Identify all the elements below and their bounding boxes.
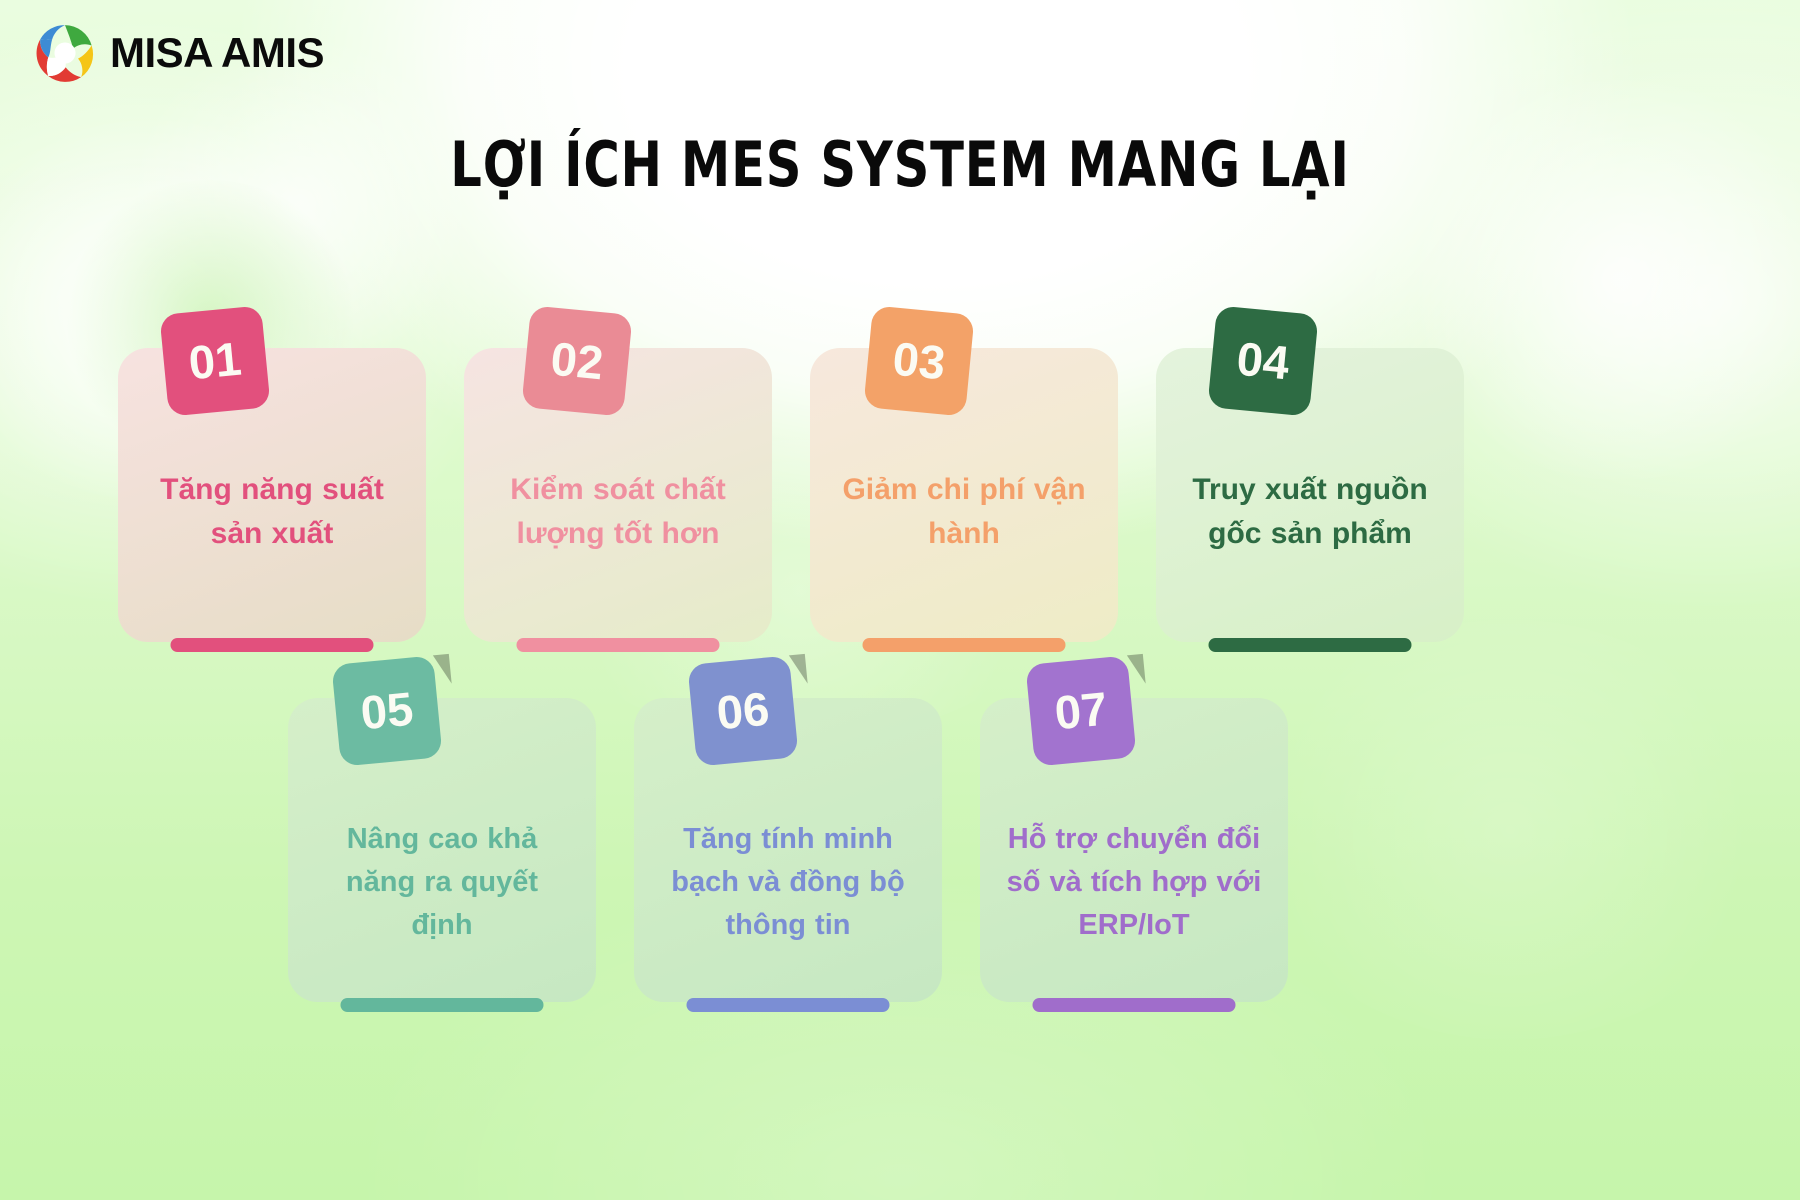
folded-corner-icon	[1127, 654, 1146, 685]
benefit-card-05[interactable]: 05Nâng cao khả năng ra quyết định	[288, 698, 596, 1002]
background-glow-6	[1250, 620, 1770, 1040]
benefit-card-underline-bar	[341, 998, 544, 1012]
brand-logo: MISA AMIS	[34, 22, 324, 84]
benefit-card-title: Nâng cao khả năng ra quyết định	[314, 818, 570, 947]
benefit-number-badge-05: 05	[331, 655, 442, 766]
benefit-card-title: Truy xuất nguồn gốc sản phẩm	[1182, 468, 1438, 557]
benefit-card-06[interactable]: 06Tăng tính minh bạch và đồng bộ thông t…	[634, 698, 942, 1002]
benefit-number-label: 03	[890, 330, 947, 390]
benefit-card-title: Hỗ trợ chuyển đổi số và tích hợp với ERP…	[1006, 818, 1262, 947]
benefit-card-row-top: 01Tăng năng suất sản xuất02Kiểm soát chấ…	[118, 348, 1464, 642]
benefit-card-row-bottom: 05Nâng cao khả năng ra quyết định06Tăng …	[288, 698, 1288, 1002]
benefit-card-underline-bar	[1209, 638, 1412, 652]
benefit-card-title: Giảm chi phí vận hành	[836, 468, 1092, 557]
benefit-number-badge-04: 04	[1207, 305, 1318, 416]
benefit-number-badge-01: 01	[159, 305, 270, 416]
benefit-card-underline-bar	[687, 998, 890, 1012]
benefit-number-label: 01	[186, 330, 243, 390]
benefit-card-title: Tăng tính minh bạch và đồng bộ thông tin	[660, 818, 916, 947]
misa-swirl-logo-icon	[34, 22, 96, 84]
benefit-card-title: Kiểm soát chất lượng tốt hơn	[490, 468, 746, 557]
benefit-card-02[interactable]: 02Kiểm soát chất lượng tốt hơn	[464, 348, 772, 642]
benefit-number-badge-06: 06	[687, 655, 798, 766]
benefit-number-label: 05	[358, 680, 415, 740]
benefit-number-badge-03: 03	[863, 305, 974, 416]
benefit-number-label: 06	[714, 680, 771, 740]
page-title: LỢI ÍCH MES SYSTEM MANG LẠI	[180, 134, 1620, 196]
benefit-card-title: Tăng năng suất sản xuất	[144, 468, 400, 557]
infographic-canvas: MISA AMIS LỢI ÍCH MES SYSTEM MANG LẠI 01…	[0, 0, 1800, 1200]
benefit-card-03[interactable]: 03Giảm chi phí vận hành	[810, 348, 1118, 642]
benefit-number-label: 02	[548, 330, 605, 390]
benefit-number-badge-07: 07	[1025, 655, 1136, 766]
benefit-number-label: 04	[1234, 330, 1291, 390]
benefit-card-underline-bar	[171, 638, 374, 652]
benefit-card-underline-bar	[517, 638, 720, 652]
benefit-number-badge-02: 02	[521, 305, 632, 416]
folded-corner-icon	[789, 654, 808, 685]
benefit-card-underline-bar	[863, 638, 1066, 652]
benefit-card-07[interactable]: 07Hỗ trợ chuyển đổi số và tích hợp với E…	[980, 698, 1288, 1002]
benefit-card-underline-bar	[1033, 998, 1236, 1012]
brand-wordmark: MISA AMIS	[110, 29, 324, 77]
benefit-number-label: 07	[1052, 680, 1109, 740]
benefit-card-01[interactable]: 01Tăng năng suất sản xuất	[118, 348, 426, 642]
folded-corner-icon	[433, 654, 452, 685]
benefit-card-04[interactable]: 04Truy xuất nguồn gốc sản phẩm	[1156, 348, 1464, 642]
